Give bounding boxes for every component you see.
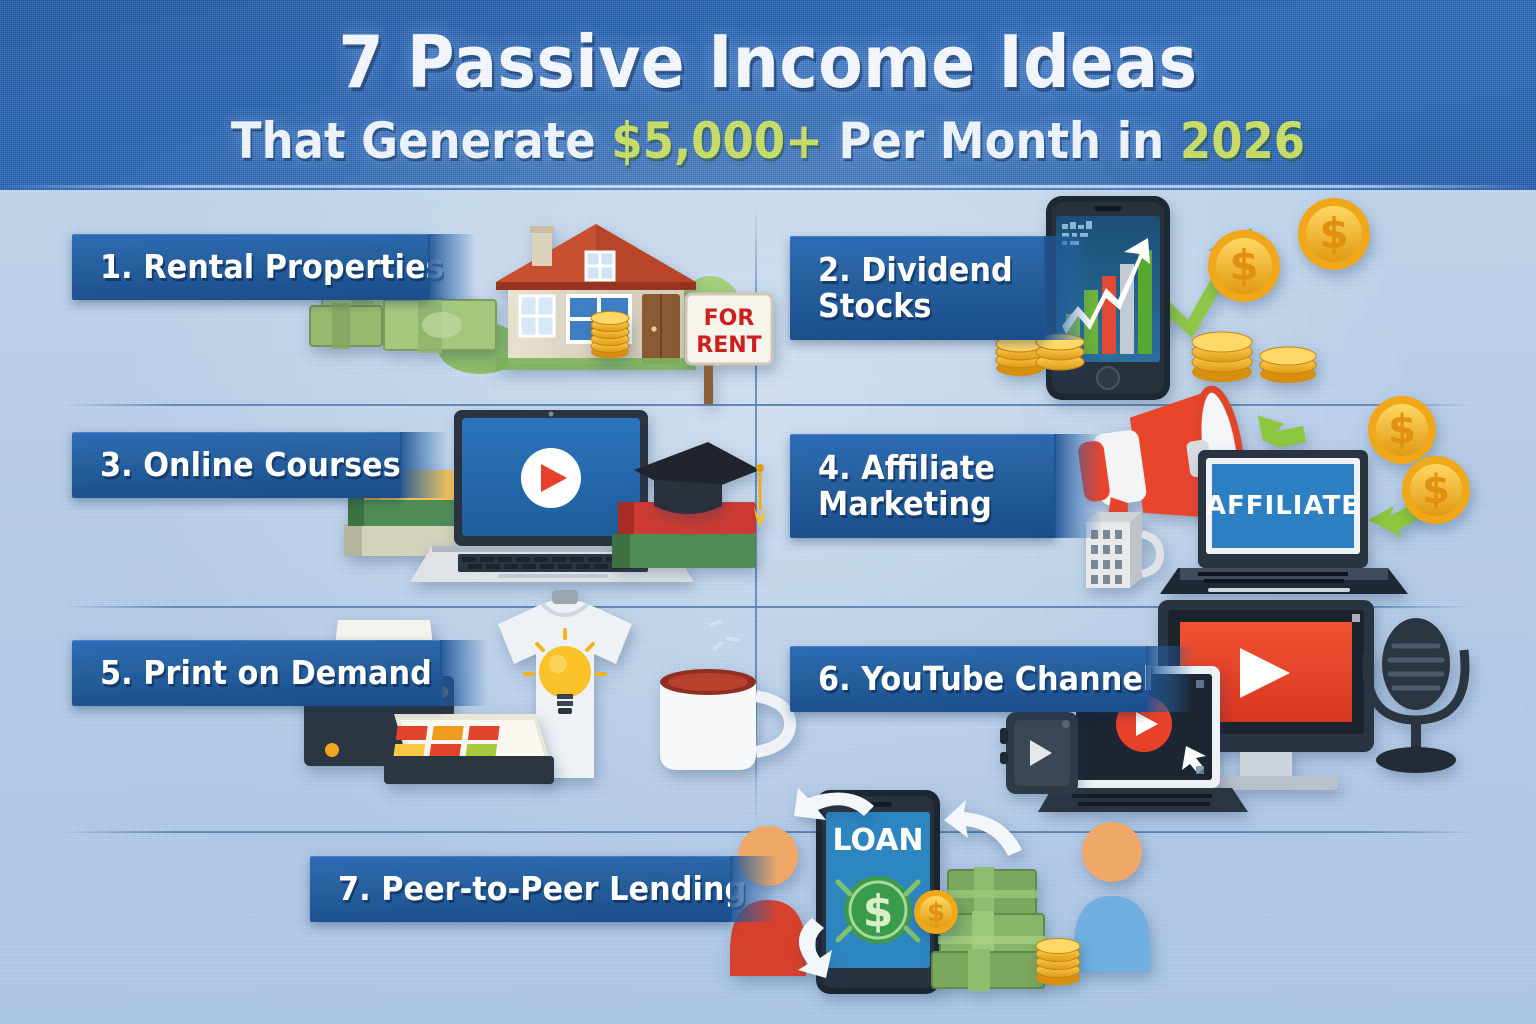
coin-stack-icon xyxy=(1192,332,1316,383)
item-label-5: 5. Print on Demand xyxy=(100,655,432,691)
subtitle-amount: $5,000+ xyxy=(611,112,822,170)
mug-icon xyxy=(660,669,790,770)
dollar-coin-icon: $ xyxy=(1298,198,1370,270)
header-banner: 7 Passive Income Ideas That Generate $5,… xyxy=(0,0,1536,190)
item-label-4-line1: 4. Affiliate xyxy=(818,450,995,486)
svg-text:$: $ xyxy=(1388,407,1416,453)
microphone-icon xyxy=(1367,618,1465,773)
dollar-coin-icon: $ xyxy=(1208,230,1280,302)
infographic-canvas: 7 Passive Income Ideas That Generate $5,… xyxy=(0,0,1536,1024)
label-band-4: 4. Affiliate Marketing xyxy=(790,434,1056,538)
card-rental-properties[interactable]: 1. Rental Properties xyxy=(72,234,732,394)
person-icon xyxy=(1074,822,1150,972)
label-band-7: 7. Peer-to-Peer Lending xyxy=(310,856,732,922)
art-peer-to-peer-lending: LOAN $ xyxy=(720,804,1170,1024)
dollar-coin-icon: $ xyxy=(1402,456,1470,524)
subtitle-prefix: That Generate xyxy=(231,112,612,170)
card-print-on-demand[interactable]: 5. Print on Demand xyxy=(72,640,772,820)
svg-text:$: $ xyxy=(1319,209,1348,258)
phone-screen-text: LOAN xyxy=(832,823,923,858)
label-band-3: 3. Online Courses xyxy=(72,432,402,498)
coin-stack-icon xyxy=(591,312,629,359)
card-affiliate-marketing[interactable]: 4. Affiliate Marketing xyxy=(790,434,1470,604)
sign-text-rent: RENT xyxy=(696,333,761,358)
card-peer-to-peer-lending[interactable]: 7. Peer-to-Peer Lending xyxy=(310,856,1210,1024)
item-label-2-line2: Stocks xyxy=(818,288,932,324)
subtitle-middle: Per Month in xyxy=(823,112,1180,170)
item-label-4-line2: Marketing xyxy=(818,486,992,522)
art-print-on-demand xyxy=(290,596,780,816)
camera-icon xyxy=(1000,712,1078,794)
subtitle-year: 2026 xyxy=(1180,112,1305,170)
svg-text:$: $ xyxy=(1229,241,1258,290)
svg-text:$: $ xyxy=(863,886,894,937)
label-band-2: 2. Dividend Stocks xyxy=(790,236,1046,340)
phone-loan-icon: LOAN $ xyxy=(816,790,940,994)
for-rent-sign-icon: FOR RENT xyxy=(686,294,772,404)
svg-text:$: $ xyxy=(1422,467,1450,513)
page-title: 7 Passive Income Ideas xyxy=(77,20,1459,104)
page-subtitle: That Generate $5,000+ Per Month in 2026 xyxy=(77,112,1459,170)
item-label-3: 3. Online Courses xyxy=(100,447,401,483)
sparkle-icon xyxy=(708,619,740,651)
label-band-5: 5. Print on Demand xyxy=(72,640,442,706)
label-band-1: 1. Rental Properties xyxy=(72,234,430,300)
item-label-6: 6. YouTube Channel xyxy=(818,661,1153,697)
sign-text-for: FOR xyxy=(704,306,755,331)
item-label-7: 7. Peer-to-Peer Lending xyxy=(338,871,746,907)
dollar-coin-icon: $ xyxy=(1368,396,1436,464)
card-online-courses[interactable]: 3. Online Courses xyxy=(72,432,752,602)
label-band-6: 6. YouTube Channel xyxy=(790,646,1148,712)
item-label-2-line1: 2. Dividend xyxy=(818,252,1013,288)
screen-text-affiliate: AFFILIATE xyxy=(1206,491,1360,521)
svg-text:$: $ xyxy=(927,898,945,928)
card-dividend-stocks[interactable]: 2. Dividend Stocks xyxy=(790,236,1450,406)
item-label-1: 1. Rental Properties xyxy=(100,249,444,285)
